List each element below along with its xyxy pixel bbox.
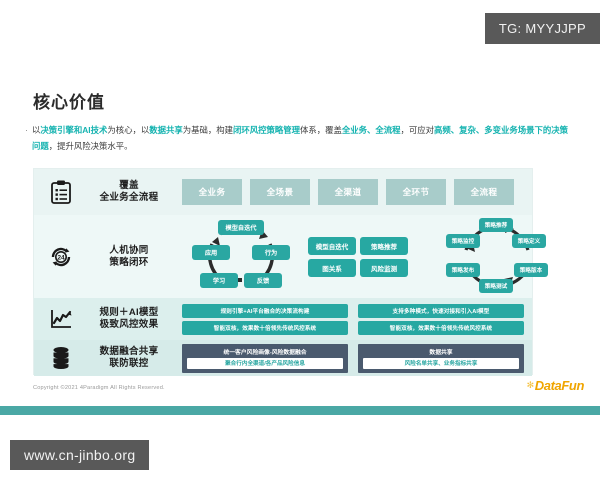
policy-node-release[interactable]: 策略发布 [446,263,480,277]
bullet-paragraph: · 以决策引擎和AI技术为核心，以数据共享为基础，构建闭环风控策略管理体系，覆盖… [25,122,570,154]
policy-node-version[interactable]: 策略版本 [514,263,548,277]
card-heading: 统一客户风险画像-风险数据融合 [223,347,306,356]
coverage-chip[interactable]: 全流程 [454,179,514,205]
matrix-row-coverage: 覆盖 全业务全流程 全业务 全场景 全渠道 全环节 全流程 [34,169,532,215]
row-title-line1: 规则＋AI模型 [99,307,158,318]
matrix-row-closedloop: 24 人机协同 策略闭环 [34,215,532,298]
policy-node-recommend[interactable]: 策略推荐 [479,218,513,232]
row-lead-coverage: 覆盖 全业务全流程 [34,177,182,207]
row-title-coverage: 覆盖 全业务全流程 [76,180,182,204]
bullet-segment-4: 为基础，构建 [183,125,233,135]
bullet-text: 以决策引擎和AI技术为核心，以数据共享为基础，构建闭环风控策略管理体系，覆盖全业… [32,122,570,154]
row-title-line1: 人机协同 [109,245,148,256]
twenty-four-hour-icon: 24 [46,242,76,272]
coverage-chip[interactable]: 全场景 [250,179,310,205]
row-body-data-sharing: 统一客户风险画像-风险数据融合 聚合行内全渠道/各产品风险信息 数据共享 风险名… [182,340,532,376]
cycle-node-model-iteration[interactable]: 模型自迭代 [218,220,264,235]
database-icon [46,343,76,373]
rules-ai-left-column: 规则引擎+AI平台融合的决策流构建 智能双核，效果数十倍领先传统风控系统 [182,304,348,335]
cycle-node-feedback[interactable]: 反馈 [244,273,282,288]
cycle-node-application[interactable]: 应用 [192,245,230,260]
capability-cell[interactable]: 图关系 [308,259,356,277]
card-detail: 风险名单共享、业务指标共享 [363,358,519,369]
capability-grid: 模型自迭代 策略推荐 图关系 风险监测 [308,237,408,277]
policy-node-monitor[interactable]: 策略监控 [446,234,480,248]
card-heading: 数据共享 [429,347,452,356]
bullet-marker: · [25,122,32,138]
bullet-segment-3: 数据共享 [149,125,183,135]
bullet-segment-7: 全业务、全流程 [342,125,401,135]
bullet-segment-2: 为核心，以 [107,125,149,135]
coverage-chip[interactable]: 全环节 [386,179,446,205]
row-lead-data-sharing: 数据融合共享 联防联控 [34,343,182,373]
rules-ai-bar[interactable]: 规则引擎+AI平台融合的决策流构建 [182,304,348,318]
row-body-closedloop: 模型自迭代 行为 反馈 学习 应用 模型自迭代 策略推荐 图关系 风险监测 [182,215,568,298]
row-title-line2: 策略闭环 [109,257,148,268]
coverage-chip-list: 全业务 全场景 全渠道 全环节 全流程 [182,179,514,205]
row-title-line1: 覆盖 [119,180,139,191]
screenshot-root: TG: MYYJJPP 核心价值 · 以决策引擎和AI技术为核心，以数据共享为基… [0,0,600,480]
watermark-bottom: www.cn-jinbo.org [10,440,149,470]
row-title-line2: 极致风控效果 [100,319,159,330]
policy-node-test[interactable]: 策略测试 [479,279,513,293]
bullet-segment-8: ，可应对 [401,125,435,135]
rules-ai-right-column: 支持多种模式，快速对接和引入AI模型 智能双核，效果数十倍领先传统风控系统 [358,304,524,335]
row-lead-closedloop: 24 人机协同 策略闭环 [34,242,182,272]
row-body-rules-ai: 规则引擎+AI平台融合的决策流构建 智能双核，效果数十倍领先传统风控系统 支持多… [182,298,532,340]
value-matrix: 覆盖 全业务全流程 全业务 全场景 全渠道 全环节 全流程 [33,168,533,375]
row-lead-rules-ai: 规则＋AI模型 极致风控效果 [34,304,182,334]
clipboard-icon [46,177,76,207]
matrix-row-rules-ai: 规则＋AI模型 极致风控效果 规则引擎+AI平台融合的决策流构建 智能双核，效果… [34,298,532,340]
row-title-closedloop: 人机协同 策略闭环 [76,245,182,269]
policy-node-definition[interactable]: 策略定义 [512,234,546,248]
datafun-logo-text: DataFun [535,378,584,393]
bullet-segment-1: 决策引擎和AI技术 [40,125,107,135]
bullet-segment-10: ，提升风险决策水平。 [49,141,133,151]
row-body-coverage: 全业务 全场景 全渠道 全环节 全流程 [182,169,532,215]
row-title-rules-ai: 规则＋AI模型 极致风控效果 [76,307,182,331]
rules-ai-bar[interactable]: 智能双核，效果数十倍领先传统风控系统 [182,321,348,335]
matrix-row-data-sharing: 数据融合共享 联防联控 统一客户风险画像-风险数据融合 聚合行内全渠道/各产品风… [34,340,532,376]
watermark-top: TG: MYYJJPP [485,13,600,44]
capability-cell[interactable]: 模型自迭代 [308,237,356,255]
sparkle-icon: ✻ [527,380,534,391]
data-sharing-card[interactable]: 数据共享 风险名单共享、业务指标共享 [358,344,524,373]
row-title-data-sharing: 数据融合共享 联防联控 [76,346,182,370]
footer-bar [0,406,600,415]
row-title-line1: 数据融合共享 [100,346,159,357]
svg-text:24: 24 [57,254,65,261]
data-sharing-card[interactable]: 统一客户风险画像-风险数据融合 聚合行内全渠道/各产品风险信息 [182,344,348,373]
row-title-line2: 全业务全流程 [100,192,159,203]
cycle-node-behavior[interactable]: 行为 [252,245,290,260]
rules-ai-panels: 规则引擎+AI平台融合的决策流构建 智能双核，效果数十倍领先传统风控系统 支持多… [182,304,532,335]
row-title-line2: 联防联控 [109,358,148,369]
card-detail: 聚合行内全渠道/各产品风险信息 [187,358,343,369]
coverage-chip[interactable]: 全业务 [182,179,242,205]
page-title: 核心价值 [33,88,105,113]
copyright-text: Copyright ©2021 4Paradigm All Rights Res… [33,385,165,391]
cycle-node-learning[interactable]: 学习 [200,273,238,288]
capability-cell[interactable]: 风险监测 [360,259,408,277]
rules-ai-bar[interactable]: 支持多种模式，快速对接和引入AI模型 [358,304,524,318]
slide-canvas: 核心价值 · 以决策引擎和AI技术为核心，以数据共享为基础，构建闭环风控策略管理… [0,60,600,430]
six-node-cycle-diagram: 策略推荐 策略定义 策略版本 策略测试 策略发布 策略监控 [430,216,562,298]
chart-line-icon [46,304,76,334]
rules-ai-bar[interactable]: 智能双核，效果数十倍领先传统风控系统 [358,321,524,335]
datafun-logo: ✻ DataFun [527,378,584,393]
capability-cell[interactable]: 策略推荐 [360,237,408,255]
data-sharing-cards: 统一客户风险画像-风险数据融合 聚合行内全渠道/各产品风险信息 数据共享 风险名… [182,344,532,373]
watermark-top-label: TG: MYYJJPP [499,21,586,36]
bullet-segment-6: 体系，覆盖 [300,125,342,135]
bullet-segment-5: 闭环风控策略管理 [233,125,300,135]
five-node-cycle-diagram: 模型自迭代 行为 反馈 学习 应用 [182,218,300,296]
watermark-bottom-label: www.cn-jinbo.org [24,447,135,463]
coverage-chip[interactable]: 全渠道 [318,179,378,205]
